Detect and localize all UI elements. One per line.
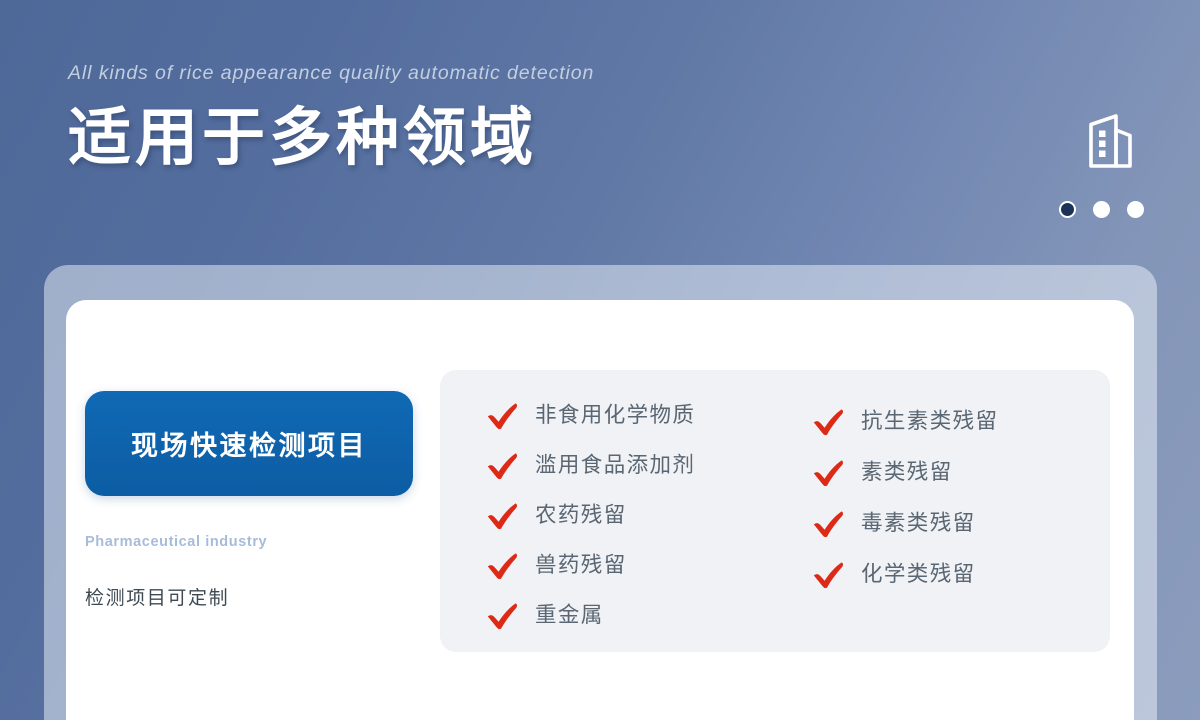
list-item: 素类残留 [812, 455, 998, 490]
industry-subtitle: Pharmaceutical industry [85, 534, 415, 550]
header: All kinds of rice appearance quality aut… [68, 62, 828, 174]
detection-items-panel: 非食用化学物质 滥用食品添加剂 农药残留 兽药残留 [440, 370, 1110, 652]
check-icon [812, 459, 844, 487]
detection-column-right: 抗生素类残留 素类残留 毒素类残留 化学类残留 [784, 370, 998, 652]
pagination-dot-1[interactable] [1059, 201, 1076, 218]
building-icon [1076, 108, 1142, 174]
check-icon [486, 552, 518, 580]
list-item: 毒素类残留 [812, 506, 998, 541]
pagination-dot-2[interactable] [1093, 201, 1110, 218]
detection-column-left: 非食用化学物质 滥用食品添加剂 农药残留 兽药残留 [440, 370, 784, 652]
pagination-dot-3[interactable] [1127, 201, 1144, 218]
list-item-label: 农药残留 [535, 505, 627, 527]
list-item: 重金属 [486, 598, 784, 633]
list-item: 抗生素类残留 [812, 404, 998, 439]
list-item-label: 重金属 [535, 605, 604, 627]
list-item-label: 滥用食品添加剂 [535, 455, 695, 477]
slide-root: All kinds of rice appearance quality aut… [0, 0, 1200, 720]
rapid-onsite-detection-button[interactable]: 现场快速检测项目 [85, 391, 413, 496]
check-icon [486, 402, 518, 430]
left-info-block: 现场快速检测项目 Pharmaceutical industry 检测项目可定制 [85, 391, 415, 610]
list-item: 滥用食品添加剂 [486, 448, 784, 483]
list-item: 农药残留 [486, 498, 784, 533]
list-item-label: 非食用化学物质 [535, 405, 695, 427]
list-item: 化学类残留 [812, 557, 998, 592]
list-item: 兽药残留 [486, 548, 784, 583]
check-icon [486, 502, 518, 530]
list-item-label: 抗生素类残留 [861, 411, 998, 433]
customizable-note: 检测项目可定制 [85, 583, 415, 610]
list-item-label: 兽药残留 [535, 555, 627, 577]
check-icon [486, 452, 518, 480]
check-icon [486, 602, 518, 630]
list-item: 非食用化学物质 [486, 398, 784, 433]
check-icon [812, 510, 844, 538]
pagination-dots[interactable] [1059, 201, 1144, 218]
check-icon [812, 408, 844, 436]
list-item-label: 素类残留 [861, 462, 953, 484]
check-icon [812, 561, 844, 589]
list-item-label: 毒素类残留 [861, 513, 976, 535]
page-title: 适用于多种领域 [68, 103, 828, 174]
list-item-label: 化学类残留 [861, 564, 976, 586]
header-eyebrow: All kinds of rice appearance quality aut… [68, 62, 828, 85]
